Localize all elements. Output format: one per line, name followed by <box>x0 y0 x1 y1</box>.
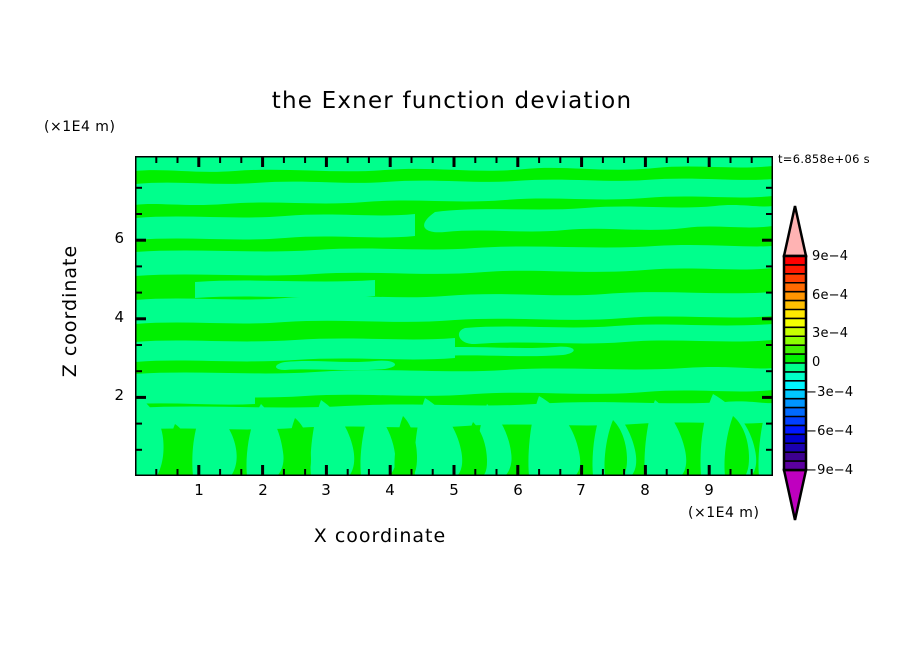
colorbar-over-extend <box>784 206 806 256</box>
colorbar-band <box>784 301 806 310</box>
colorbar-band <box>784 425 806 434</box>
colorbar-band <box>784 417 806 426</box>
colorbar-band <box>784 345 806 354</box>
colorbar-band <box>784 274 806 283</box>
x-tick-label: 3 <box>306 481 346 499</box>
colorbar-band <box>784 399 806 408</box>
x-tick-label: 8 <box>625 481 665 499</box>
colorbar-band <box>784 434 806 443</box>
colorbar-band <box>784 327 806 336</box>
y-tick-label: 4 <box>100 308 124 326</box>
colorbar-band <box>784 318 806 327</box>
colorbar-band <box>784 354 806 363</box>
colorbar-tick-label: 0 <box>812 355 820 370</box>
colorbar-unit-label: (×1E4 m) <box>688 505 759 521</box>
colorbar-band <box>784 283 806 292</box>
colorbar-band <box>784 381 806 390</box>
colorbar-under-extend <box>784 470 806 520</box>
colorbar-band <box>784 363 806 372</box>
colorbar-tick-label: −6e−4 <box>806 424 853 439</box>
x-tick-label: 7 <box>561 481 601 499</box>
colorbar-tick-label: 3e−4 <box>812 326 848 341</box>
y-tick-label: 2 <box>100 386 124 404</box>
colorbar-band <box>784 310 806 319</box>
colorbar-tick-label: 9e−4 <box>812 249 848 264</box>
x-tick-label: 4 <box>370 481 410 499</box>
x-tick-label: 9 <box>689 481 729 499</box>
colorbar-band <box>784 336 806 345</box>
colorbar-band <box>784 408 806 417</box>
colorbar-band <box>784 256 806 265</box>
y-axis-unit-label: (×1E4 m) <box>44 119 115 135</box>
colorbar-band <box>784 265 806 274</box>
colorbar-band <box>784 390 806 399</box>
time-annotation: t=6.858e+06 s <box>778 152 870 166</box>
x-tick-label: 5 <box>434 481 474 499</box>
x-tick-label: 1 <box>179 481 219 499</box>
x-axis-title: X coordinate <box>0 525 760 547</box>
contour-plot <box>135 156 773 476</box>
colorbar-tick-label: −9e−4 <box>806 463 853 478</box>
colorbar-band <box>784 443 806 452</box>
x-tick-label: 2 <box>243 481 283 499</box>
colorbar-tick-label: −3e−4 <box>806 385 853 400</box>
colorbar-tick-label: 6e−4 <box>812 288 848 303</box>
x-tick-label: 6 <box>498 481 538 499</box>
y-axis-title: Z coordinate <box>59 211 81 411</box>
colorbar-band <box>784 292 806 301</box>
colorbar-band <box>784 372 806 381</box>
colorbar-band <box>784 452 806 461</box>
page-title: the Exner function deviation <box>0 88 904 114</box>
y-tick-label: 6 <box>100 229 124 247</box>
